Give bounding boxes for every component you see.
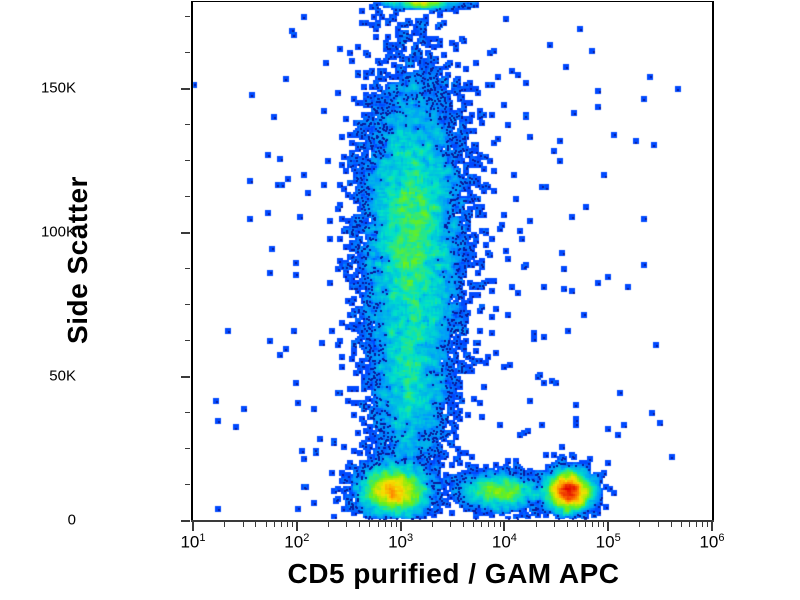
y-tick-major bbox=[181, 88, 190, 90]
x-tick-major bbox=[192, 522, 194, 531]
x-tick-minor bbox=[671, 522, 672, 527]
x-tick-minor bbox=[243, 522, 244, 527]
x-tick-major bbox=[400, 522, 402, 531]
x-tick-minor bbox=[463, 522, 464, 527]
y-tick-minor bbox=[185, 412, 190, 413]
y-tick-minor bbox=[185, 52, 190, 53]
flow-cytometry-plot: 101102103104105106 050K100K150K CD5 puri… bbox=[0, 0, 800, 600]
x-tick-minor bbox=[598, 522, 599, 527]
x-tick-major bbox=[607, 522, 609, 531]
x-tick-minor bbox=[488, 522, 489, 527]
x-tick-minor bbox=[292, 522, 293, 527]
x-tick-minor bbox=[689, 522, 690, 527]
x-tick-minor bbox=[385, 522, 386, 527]
y-tick-minor bbox=[185, 484, 190, 485]
y-tick-major bbox=[181, 376, 190, 378]
x-tick-label: 102 bbox=[284, 532, 309, 553]
y-tick-label: 0 bbox=[68, 512, 76, 529]
y-tick-major bbox=[181, 520, 190, 522]
x-tick-minor bbox=[577, 522, 578, 527]
x-tick-minor bbox=[255, 522, 256, 527]
x-tick-minor bbox=[494, 522, 495, 527]
x-tick-label: 103 bbox=[388, 532, 413, 553]
x-tick-major bbox=[711, 522, 713, 531]
x-tick-minor bbox=[603, 522, 604, 527]
x-tick-minor bbox=[391, 522, 392, 527]
y-tick-minor bbox=[185, 268, 190, 269]
x-tick-minor bbox=[396, 522, 397, 527]
x-axis-title: CD5 purified / GAM APC bbox=[193, 558, 714, 590]
plot-frame-top bbox=[191, 1, 714, 2]
x-tick-minor bbox=[281, 522, 282, 527]
y-tick-minor bbox=[185, 304, 190, 305]
x-tick-minor bbox=[473, 522, 474, 527]
x-tick-minor bbox=[707, 522, 708, 527]
x-tick-minor bbox=[266, 522, 267, 527]
x-tick-minor bbox=[450, 522, 451, 527]
x-tick-minor bbox=[224, 522, 225, 527]
x-tick-minor bbox=[500, 522, 501, 527]
x-tick-minor bbox=[554, 522, 555, 527]
x-tick-minor bbox=[346, 522, 347, 527]
y-tick-minor bbox=[185, 448, 190, 449]
x-tick-minor bbox=[658, 522, 659, 527]
x-tick-minor bbox=[359, 522, 360, 527]
y-tick-minor bbox=[185, 196, 190, 197]
x-tick-minor bbox=[592, 522, 593, 527]
x-tick-minor bbox=[274, 522, 275, 527]
y-tick-major bbox=[181, 232, 190, 234]
x-tick-label: 101 bbox=[180, 532, 205, 553]
x-tick-minor bbox=[696, 522, 697, 527]
x-tick-minor bbox=[681, 522, 682, 527]
x-tick-minor bbox=[328, 522, 329, 527]
x-tick-minor bbox=[432, 522, 433, 527]
x-tick-minor bbox=[287, 522, 288, 527]
y-tick-minor bbox=[185, 16, 190, 17]
x-tick-major bbox=[503, 522, 505, 531]
x-tick-minor bbox=[585, 522, 586, 527]
x-tick-label: 105 bbox=[596, 532, 621, 553]
x-tick-major bbox=[296, 522, 298, 531]
x-tick-minor bbox=[567, 522, 568, 527]
y-axis-title: Side Scatter bbox=[62, 60, 94, 460]
plot-frame-bottom bbox=[191, 520, 714, 522]
scatter-density-canvas bbox=[0, 0, 800, 600]
plot-frame-left bbox=[191, 2, 193, 521]
x-tick-label: 104 bbox=[492, 532, 517, 553]
x-tick-minor bbox=[702, 522, 703, 527]
x-tick-minor bbox=[639, 522, 640, 527]
x-tick-minor bbox=[481, 522, 482, 527]
y-tick-minor bbox=[185, 340, 190, 341]
y-tick-minor bbox=[185, 160, 190, 161]
x-tick-minor bbox=[536, 522, 537, 527]
x-tick-label: 106 bbox=[699, 532, 724, 553]
x-tick-minor bbox=[369, 522, 370, 527]
y-tick-minor bbox=[185, 124, 190, 125]
x-tick-minor bbox=[378, 522, 379, 527]
plot-frame-right bbox=[712, 2, 714, 521]
